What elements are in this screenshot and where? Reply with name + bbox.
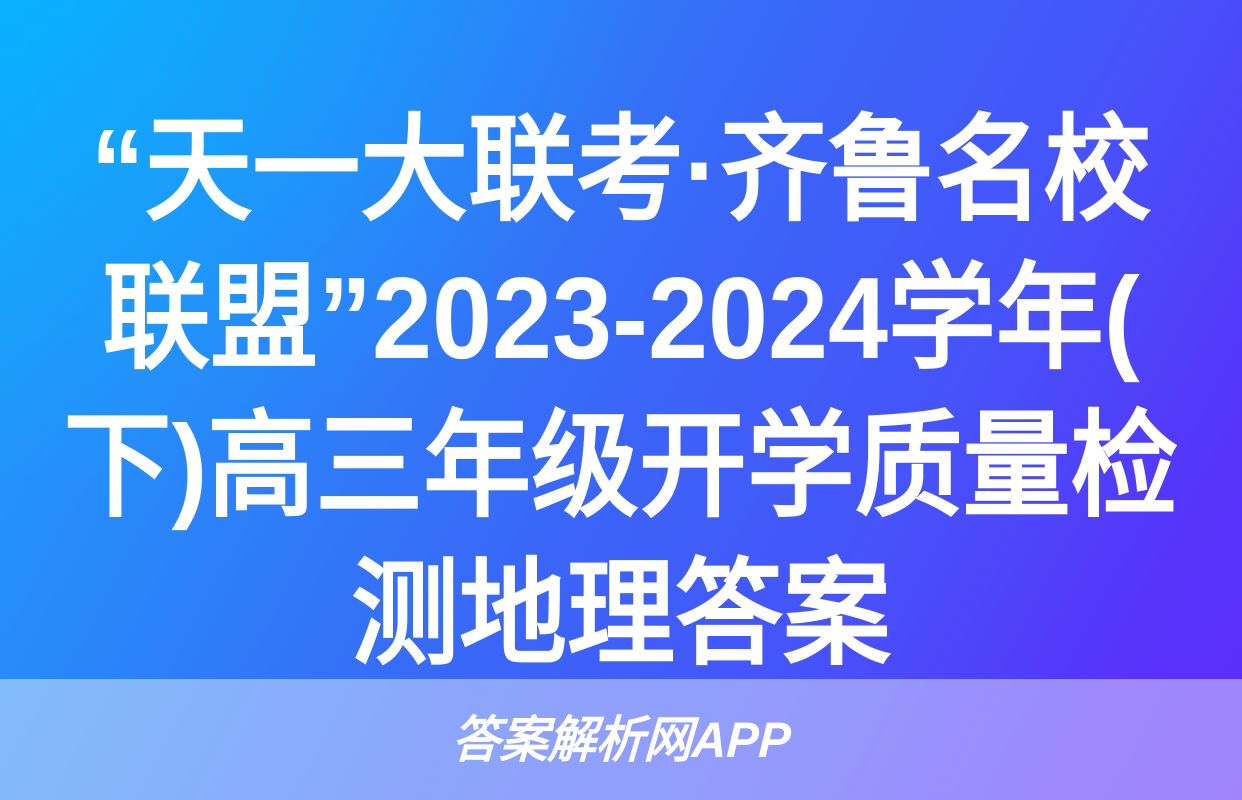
answer-cover-poster: “天一大联考·齐鲁名校 联盟”2023-2024学年( 下)高三年级开学质量检 …	[0, 0, 1242, 800]
watermark-bar: 答案解析网APP	[0, 679, 1242, 800]
page-title: “天一大联考·齐鲁名校 联盟”2023-2024学年( 下)高三年级开学质量检 …	[43, 96, 1198, 688]
title-line-2: 联盟”2023-2024学年(	[43, 244, 1198, 392]
title-line-1: “天一大联考·齐鲁名校	[43, 96, 1198, 244]
title-line-3: 下)高三年级开学质量检	[43, 392, 1198, 540]
watermark-app-label: 答案解析网APP	[450, 715, 791, 765]
title-line-4: 测地理答案	[43, 540, 1198, 688]
